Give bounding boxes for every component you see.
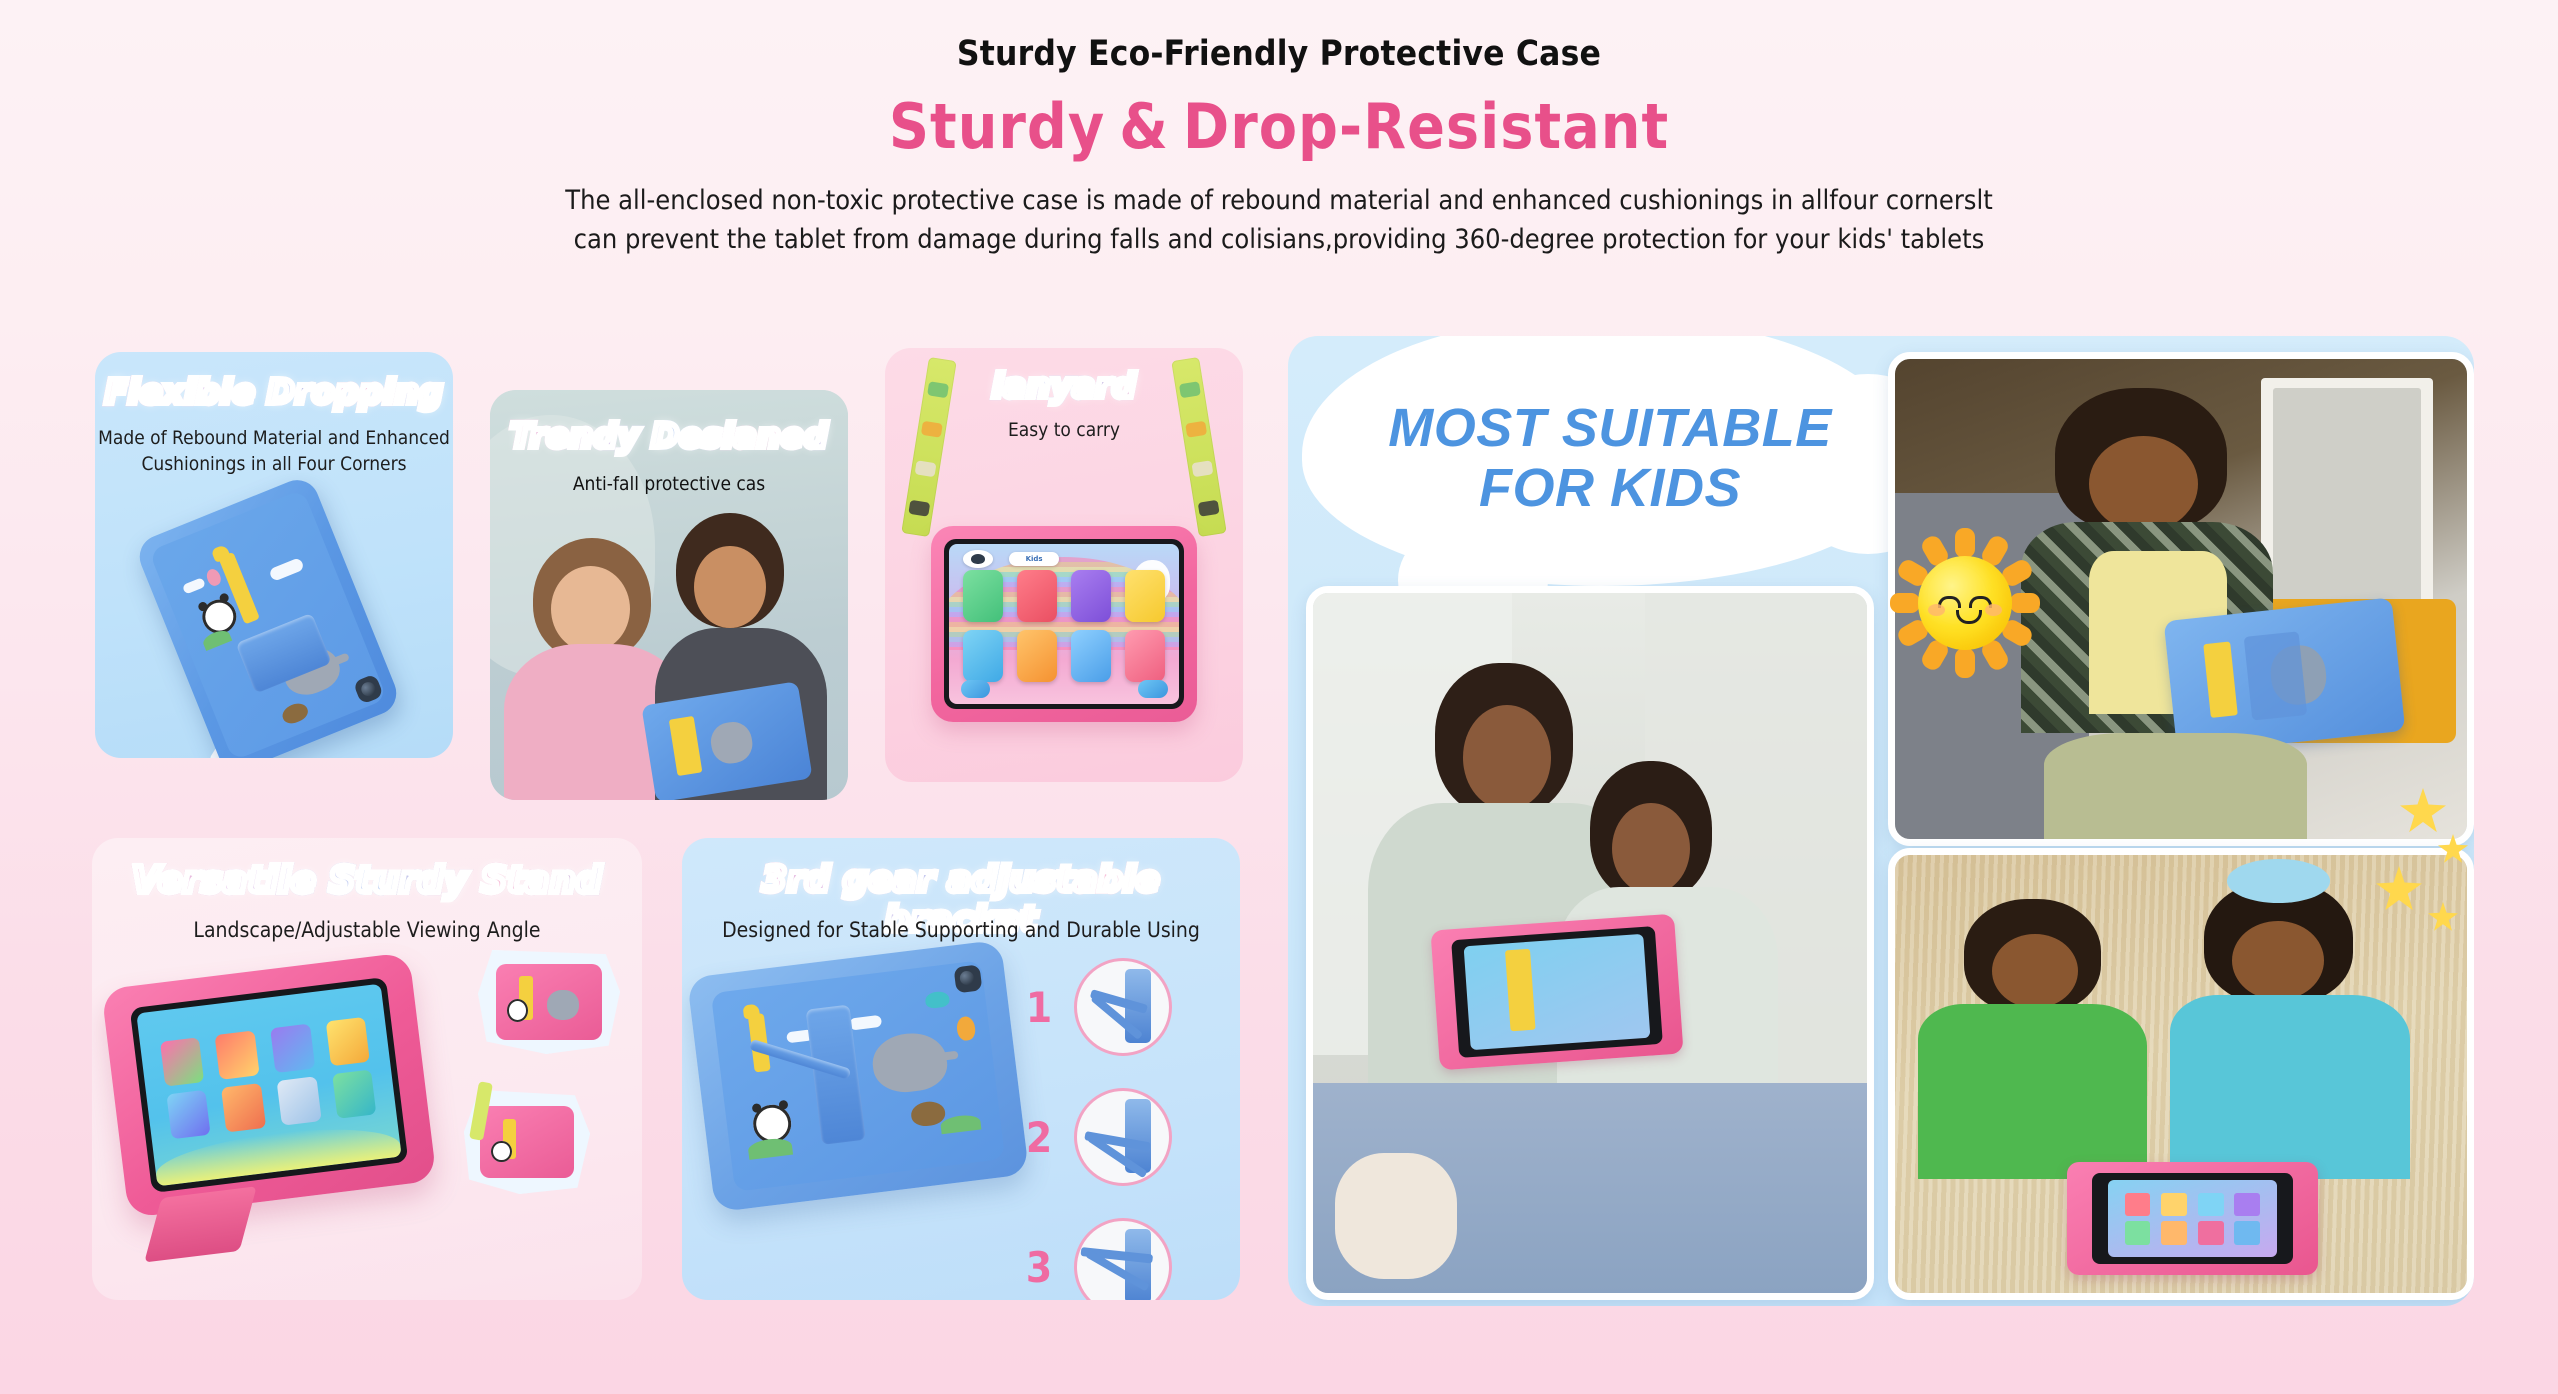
sun-ray — [2010, 593, 2040, 613]
card-title: Versatile Sturdy Stand — [92, 860, 642, 901]
app-tile[interactable] — [1017, 630, 1057, 682]
bracket-body-graphic — [1125, 1229, 1151, 1300]
strap-print-icon — [1198, 500, 1220, 517]
card-subtitle-line-1: Made of Rebound Material and Enhanced — [95, 426, 453, 452]
strap-print-icon — [1191, 460, 1213, 477]
card-subtitle-line-1: Anti-fall protective cas — [490, 472, 848, 498]
cloud-doodle-icon — [849, 1015, 882, 1031]
step-number: 2 — [1022, 1113, 1056, 1162]
menu-button[interactable] — [1138, 680, 1168, 698]
app-tile[interactable] — [215, 1031, 259, 1080]
page-title-ampersand: & — [1105, 90, 1183, 163]
app-grid — [963, 570, 1165, 682]
app-tile — [2234, 1193, 2260, 1217]
card-subtitle-line-2: Cushionings in all Four Corners — [95, 452, 453, 478]
bracket-angle-thumbnail — [1074, 958, 1172, 1056]
kids-launcher-screen: Kids — [949, 544, 1179, 704]
bird-doodle-icon — [924, 990, 950, 1009]
card-subtitle: Landscape/Adjustable Viewing Angle — [92, 916, 642, 944]
cloud-doodle-icon — [182, 577, 206, 595]
page-title: Sturdy&Drop-Resistant — [0, 90, 2558, 163]
step-number: 3 — [1022, 1243, 1056, 1292]
profile-avatar[interactable] — [963, 550, 993, 568]
app-tile[interactable] — [160, 1038, 204, 1087]
most-suitable-for-kids-panel: MOST SUITABLE FOR KIDS — [1288, 336, 2474, 1306]
pink-tablet-on-kickstand — [101, 952, 437, 1218]
app-tile — [2161, 1193, 2187, 1217]
panel-headline: MOST SUITABLE FOR KIDS — [1340, 398, 1880, 519]
camera-lens-icon — [953, 964, 982, 993]
thumbnail-pink-case-back — [478, 950, 620, 1054]
header-description: The all-enclosed non-toxic protective ca… — [0, 181, 2558, 259]
elephant-doodle-icon — [869, 1029, 950, 1096]
app-tile[interactable] — [963, 570, 1003, 622]
strap-print-icon — [908, 500, 930, 517]
page-title-part2: Drop-Resistant — [1183, 90, 1669, 163]
header: Sturdy Eco-Friendly Protective Case Stur… — [0, 34, 2558, 259]
panel-headline-line-2: FOR KIDS — [1340, 458, 1880, 518]
app-tile[interactable] — [270, 1024, 314, 1073]
card-subtitle: Made of Rebound Material and Enhanced Cu… — [95, 426, 453, 477]
pink-tablet-case-with-lanyard: Kids — [931, 526, 1197, 722]
page-title-part1: Sturdy — [889, 90, 1105, 163]
strap-print-icon — [1179, 381, 1201, 398]
infographic-page: Sturdy Eco-Friendly Protective Case Stur… — [0, 0, 2558, 1394]
app-tile[interactable] — [1125, 570, 1165, 622]
step-number: 1 — [1022, 983, 1056, 1032]
card-subtitle: Anti-fall protective cas — [490, 472, 848, 498]
feature-card-adjustable-bracket: 3rd gear adjustable bracket Designed for… — [682, 838, 1240, 1300]
header-description-line-1: The all-enclosed non-toxic protective ca… — [0, 181, 2558, 220]
sun-blush-right — [1985, 604, 2002, 616]
app-tile — [2234, 1221, 2260, 1245]
back-button[interactable] — [961, 680, 991, 698]
blue-tablet-case-back — [687, 940, 1029, 1213]
app-tile — [2161, 1221, 2187, 1245]
thumbnail-pink-case-with-strap — [464, 1090, 590, 1194]
strap-print-icon — [927, 381, 949, 398]
grass-doodle-icon — [940, 1113, 982, 1134]
app-tile[interactable] — [963, 630, 1003, 682]
panel-headline-line-1: MOST SUITABLE — [1340, 398, 1880, 458]
cloud-doodle-icon — [268, 557, 304, 582]
app-tile[interactable] — [1125, 630, 1165, 682]
card-title: Trendy Desianed — [490, 416, 848, 455]
header-kicker: Sturdy Eco-Friendly Protective Case — [0, 34, 2558, 74]
feature-card-versatile-sturdy-stand: Versatile Sturdy Stand Landscape/Adjusta… — [92, 838, 642, 1300]
card-subtitle-line-1: Landscape/Adjustable Viewing Angle — [92, 916, 642, 944]
balloon-doodle-icon — [204, 567, 222, 588]
rainbow-decoration — [1794, 1120, 2134, 1290]
grass-doodle-icon — [201, 628, 232, 651]
strap-print-icon — [1185, 421, 1207, 438]
bracket-step-1: 1 — [1022, 958, 1172, 1056]
profile-name-pill[interactable]: Kids — [1009, 552, 1060, 566]
app-tile — [2198, 1221, 2224, 1245]
feature-card-flexible-dropping: Flexible Dropping Made of Rebound Materi… — [95, 352, 453, 758]
bracket-angle-thumbnail — [1074, 1088, 1172, 1186]
sun-blush-left — [1928, 604, 1945, 616]
bracket-angle-thumbnail — [1074, 1218, 1172, 1300]
app-tile[interactable] — [1071, 630, 1111, 682]
sun-smile — [1956, 610, 1982, 624]
bracket-step-2: 2 — [1022, 1088, 1172, 1186]
app-tile[interactable] — [1071, 570, 1111, 622]
card-subtitle: Designed for Stable Supporting and Durab… — [682, 916, 1240, 944]
feature-card-trendy-designed: Trendy Desianed Anti-fall protective cas — [490, 390, 848, 800]
app-tile[interactable] — [221, 1083, 265, 1132]
app-tile — [2198, 1193, 2224, 1217]
app-tile[interactable] — [332, 1069, 376, 1118]
sun-ray — [1890, 593, 1920, 613]
turtle-doodle-icon — [280, 700, 311, 726]
app-tile[interactable] — [326, 1017, 370, 1066]
bracket-step-3: 3 — [1022, 1218, 1172, 1300]
strap-print-icon — [915, 460, 937, 477]
sun-face — [1918, 556, 2012, 650]
smiling-sun-icon — [1890, 528, 2040, 678]
app-tile[interactable] — [1017, 570, 1057, 622]
header-description-line-2: can prevent the tablet from damage durin… — [0, 220, 2558, 259]
sun-ray — [1955, 648, 1975, 678]
card-title: Flexible Dropping — [95, 372, 453, 411]
grass-doodle-icon — [747, 1137, 793, 1160]
sun-ray — [1955, 528, 1975, 558]
strap-print-icon — [921, 421, 943, 438]
app-tile[interactable] — [277, 1076, 321, 1125]
app-tile[interactable] — [166, 1090, 210, 1139]
card-subtitle-line-1: Designed for Stable Supporting and Durab… — [682, 916, 1240, 944]
hot-air-balloon-doodle-icon — [956, 1015, 977, 1041]
photo-mother-and-daughter-with-pink-tablet — [1306, 586, 1874, 1300]
feature-card-lanyard: lanyard Easy to carry Kids — [885, 348, 1243, 782]
